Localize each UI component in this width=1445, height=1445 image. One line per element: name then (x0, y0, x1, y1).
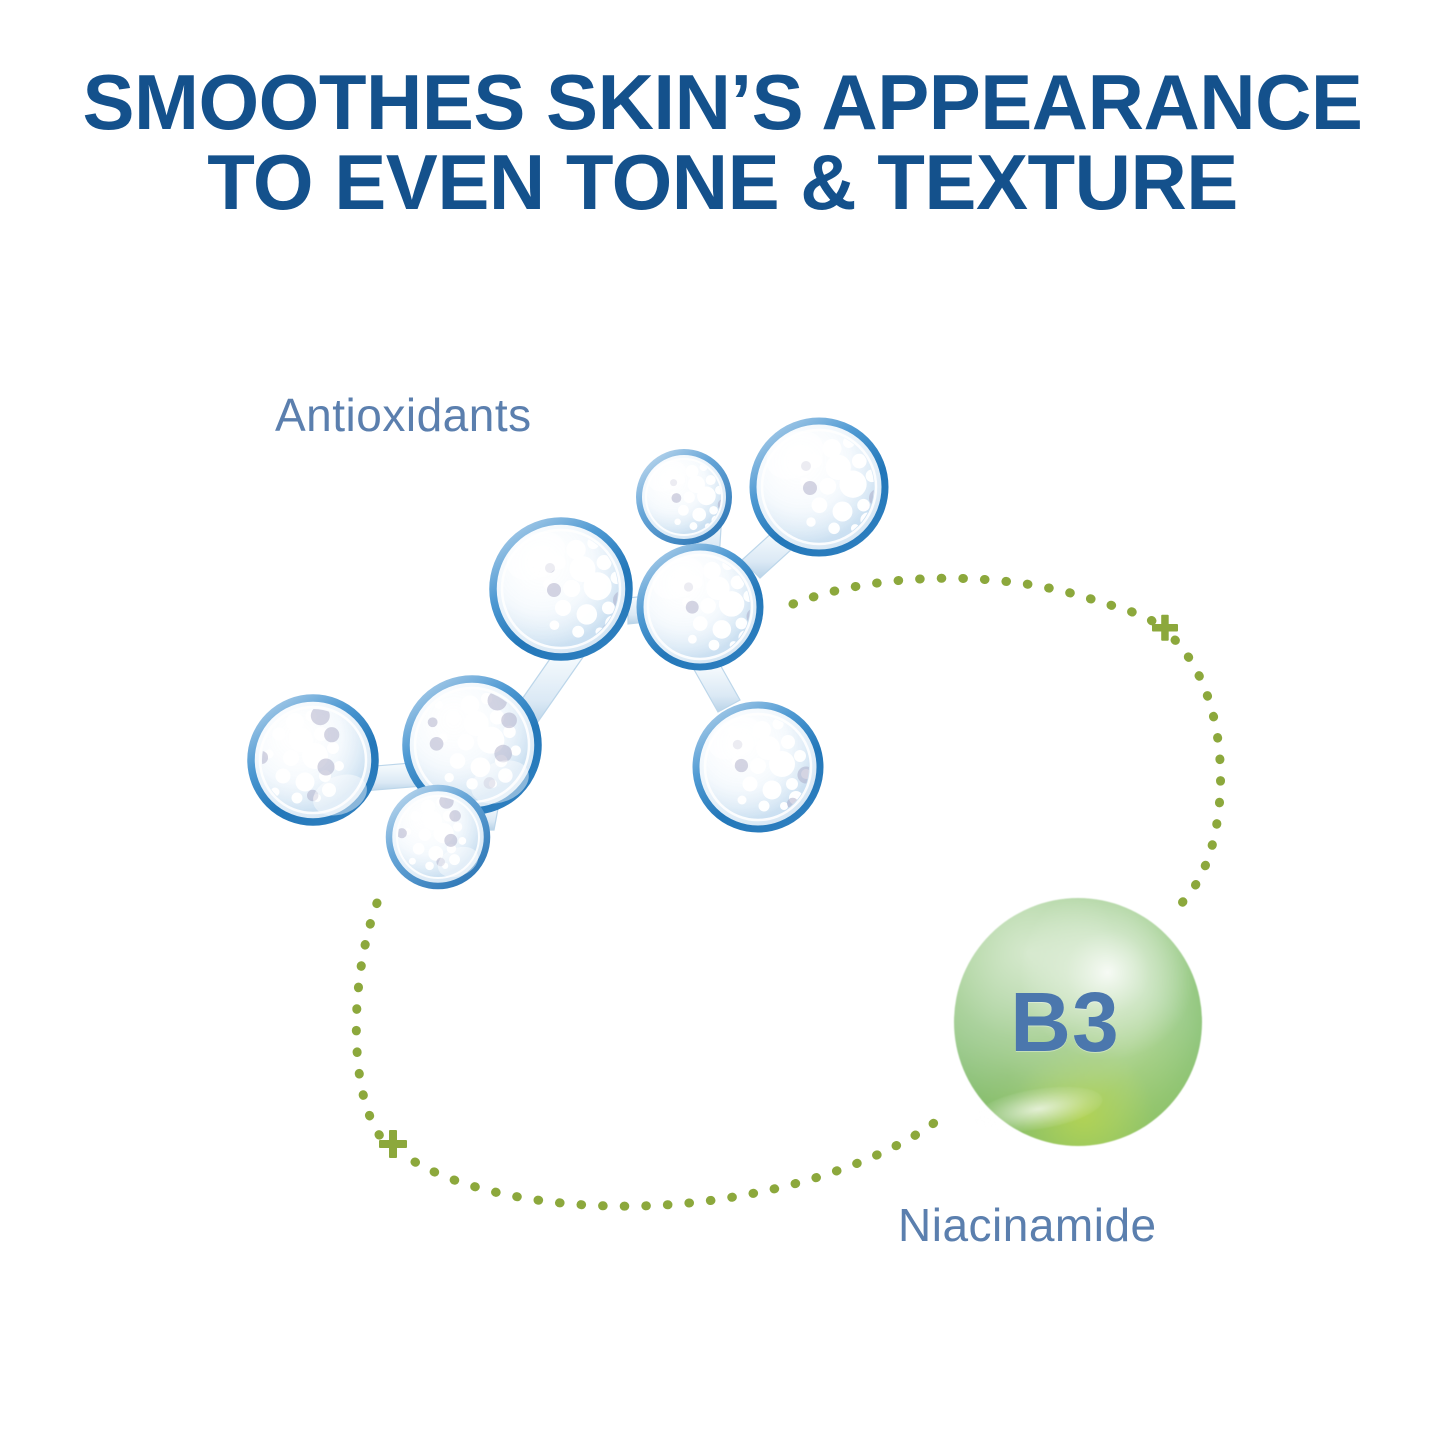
dotted-arc-bottom-left-segment (356, 903, 380, 1136)
infographic-canvas: SMOOTHES SKIN’S APPEARANCE TO EVEN TONE … (0, 0, 1445, 1445)
niacinamide-label: Niacinamide (898, 1198, 1157, 1252)
dotted-arc-top-right-segment (1172, 640, 1221, 912)
dotted-connector-arcs (0, 0, 1445, 1445)
antioxidants-label: Antioxidants (275, 388, 532, 442)
b3-badge-text: B3 (954, 898, 1202, 1146)
dotted-arc-top-left-segment (793, 578, 1156, 624)
dotted-arc-bottom-right-segment (415, 1112, 948, 1206)
